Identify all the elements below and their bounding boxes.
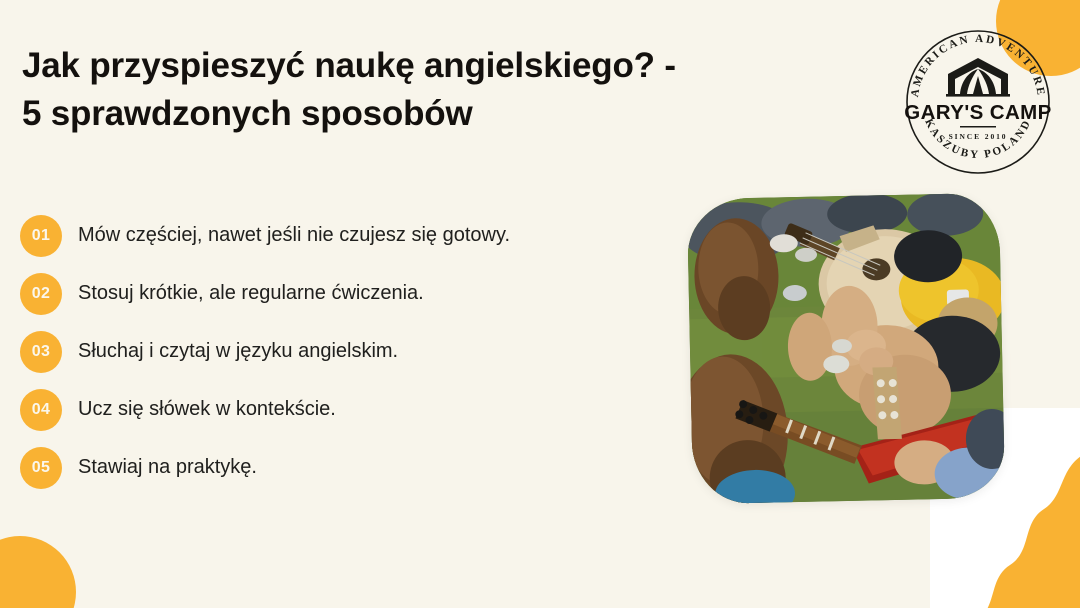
list-item: 03 Słuchaj i czytaj w języku angielskim. <box>20 324 660 379</box>
slide-canvas: Jak przyspieszyć naukę angielskiego? - 5… <box>0 0 1080 608</box>
tip-number-badge: 03 <box>20 331 62 373</box>
tip-text: Słuchaj i czytaj w języku angielskim. <box>78 339 398 364</box>
decorative-circle-bottom-left <box>0 536 76 608</box>
tips-list: 01 Mów częściej, nawet jeśli nie czujesz… <box>20 208 660 498</box>
list-item: 02 Stosuj krótkie, ale regularne ćwiczen… <box>20 266 660 321</box>
headline-line-2: 5 sprawdzonych sposobów <box>22 90 852 138</box>
tip-text: Stawiaj na praktykę. <box>78 455 257 480</box>
tip-number-badge: 02 <box>20 273 62 315</box>
garys-camp-logo: AMERICAN ADVENTURE KASZUBY POLAND GARY'S… <box>898 22 1058 182</box>
tip-number-badge: 05 <box>20 447 62 489</box>
headline-line-1: Jak przyspieszyć naukę angielskiego? - <box>22 42 852 90</box>
camp-photo <box>687 193 1005 504</box>
list-item: 01 Mów częściej, nawet jeśli nie czujesz… <box>20 208 660 263</box>
tip-number-badge: 04 <box>20 389 62 431</box>
tip-text: Stosuj krótkie, ale regularne ćwiczenia. <box>78 281 424 306</box>
tip-text: Mów częściej, nawet jeśli nie czujesz si… <box>78 223 510 248</box>
list-item: 05 Stawiaj na praktykę. <box>20 440 660 495</box>
svg-text:GARY'S CAMP: GARY'S CAMP <box>904 101 1051 124</box>
tip-text: Ucz się słówek w kontekście. <box>78 397 336 422</box>
list-item: 04 Ucz się słówek w kontekście. <box>20 382 660 437</box>
tip-number-badge: 01 <box>20 215 62 257</box>
svg-text:SINCE 2010: SINCE 2010 <box>949 132 1008 141</box>
tent-icon <box>946 58 1010 97</box>
page-title: Jak przyspieszyć naukę angielskiego? - 5… <box>22 42 852 137</box>
photo-blob <box>687 193 1005 504</box>
